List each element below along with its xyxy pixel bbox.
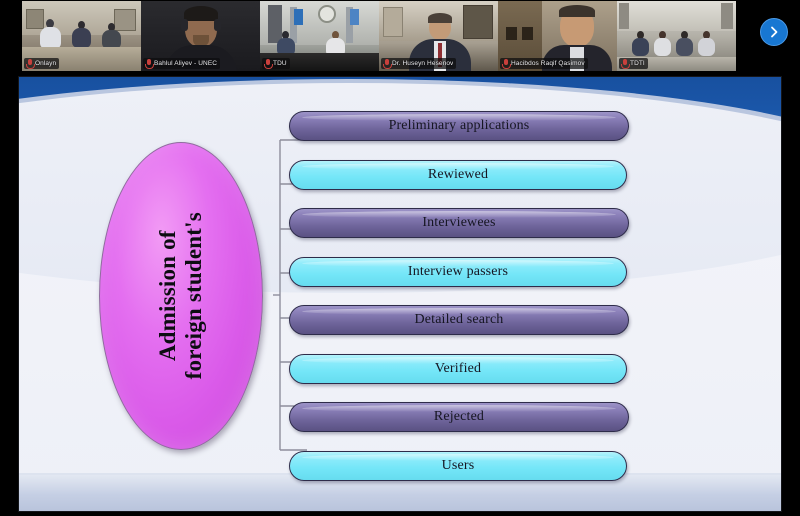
person-hair xyxy=(428,13,452,23)
participant-tile[interactable]: TDTI xyxy=(617,1,736,71)
diagram-node[interactable]: Interview passers xyxy=(289,257,627,287)
person-body xyxy=(698,38,715,56)
participant-label: Hacibdos Raqif Qasimov xyxy=(500,58,588,69)
headset-earcup xyxy=(181,19,188,31)
diagram-node-label: Interview passers xyxy=(408,264,508,280)
room-panel xyxy=(114,9,136,31)
window-frame xyxy=(268,5,282,43)
diagram-node[interactable]: Rewiewed xyxy=(289,160,627,190)
hub-label-line1: Admission of xyxy=(155,212,181,379)
diagram-node-label: Preliminary applications xyxy=(389,118,530,134)
diagram-node[interactable]: Interviewees xyxy=(289,208,629,238)
participant-label: Onlayn xyxy=(24,58,59,69)
mic-muted-icon xyxy=(264,59,271,68)
shared-slide[interactable]: Admission of foreign student's Prelimina… xyxy=(18,76,782,512)
participant-label: TDU xyxy=(262,58,290,69)
participant-label: Dr. Huseyn Hesenov xyxy=(381,58,456,69)
participant-tile[interactable]: Onlayn xyxy=(22,1,141,71)
participant-name: Onlayn xyxy=(35,60,56,67)
diagram-node-label: Verified xyxy=(435,361,481,377)
diagram-node-label: Rejected xyxy=(434,409,484,425)
diagram-node[interactable]: Verified xyxy=(289,354,627,384)
participant-name: Hacibdos Raqif Qasimov xyxy=(511,60,585,67)
mic-muted-icon xyxy=(621,59,628,68)
participant-label: Bahlul Aliyev - UNEC xyxy=(143,58,220,69)
participant-name: Dr. Huseyn Hesenov xyxy=(392,60,453,67)
participant-name: TDU xyxy=(273,60,287,67)
person-body xyxy=(654,38,671,56)
chevron-right-icon xyxy=(767,25,781,39)
person-body xyxy=(72,28,91,48)
column xyxy=(721,3,733,29)
diagram-node-label: Interviewees xyxy=(422,215,495,231)
mic-muted-icon xyxy=(502,59,509,68)
participant-tile[interactable]: Bahlul Aliyev - UNEC xyxy=(141,1,260,71)
cabinet-panel xyxy=(522,27,533,40)
diagram-node[interactable]: Rejected xyxy=(289,402,629,432)
flag xyxy=(294,9,303,25)
participant-tile-active[interactable]: Hacibdos Raqif Qasimov xyxy=(498,1,617,71)
mic-muted-icon xyxy=(26,59,33,68)
mic-muted-icon xyxy=(145,59,152,68)
filmstrip-left-pad xyxy=(0,0,22,72)
room-wall xyxy=(617,1,736,31)
diagram-node-list: Preliminary applications Rewiewed Interv… xyxy=(289,111,645,481)
screen-root: Onlayn Bahlul Aliyev - UNEC xyxy=(0,0,800,516)
diagram-node[interactable]: Detailed search xyxy=(289,305,629,335)
diagram-node-label: Users xyxy=(442,458,475,474)
participant-label: TDTI xyxy=(619,58,648,69)
next-participants-button[interactable] xyxy=(760,18,788,46)
person-body xyxy=(632,38,649,56)
flag xyxy=(350,9,359,25)
diagram-node-label: Rewiewed xyxy=(428,167,488,183)
wall-emblem xyxy=(318,5,336,23)
headset-earcup xyxy=(214,19,221,31)
participant-name: Bahlul Aliyev - UNEC xyxy=(154,60,217,67)
mic-muted-icon xyxy=(383,59,390,68)
column xyxy=(619,3,629,29)
room-panel xyxy=(26,9,44,29)
person-body xyxy=(40,27,61,49)
participant-name: TDTI xyxy=(630,60,645,67)
person-hair xyxy=(184,6,218,21)
diagram-node[interactable]: Users xyxy=(289,451,627,481)
room-panel xyxy=(383,7,403,37)
cabinet-panel xyxy=(506,27,517,40)
hub-label-line2: foreign student's xyxy=(181,212,207,379)
bookshelf xyxy=(463,5,493,39)
participant-tile[interactable]: TDU xyxy=(260,1,379,71)
person-body xyxy=(676,38,693,56)
participant-tile[interactable]: Dr. Huseyn Hesenov xyxy=(379,1,498,71)
participant-filmstrip: Onlayn Bahlul Aliyev - UNEC xyxy=(0,0,800,72)
diagram-hub-ellipse: Admission of foreign student's xyxy=(99,142,263,450)
diagram-hub-label: Admission of foreign student's xyxy=(155,212,207,379)
diagram-node[interactable]: Preliminary applications xyxy=(289,111,629,141)
person-hair xyxy=(559,5,595,17)
diagram-node-label: Detailed search xyxy=(415,312,504,328)
